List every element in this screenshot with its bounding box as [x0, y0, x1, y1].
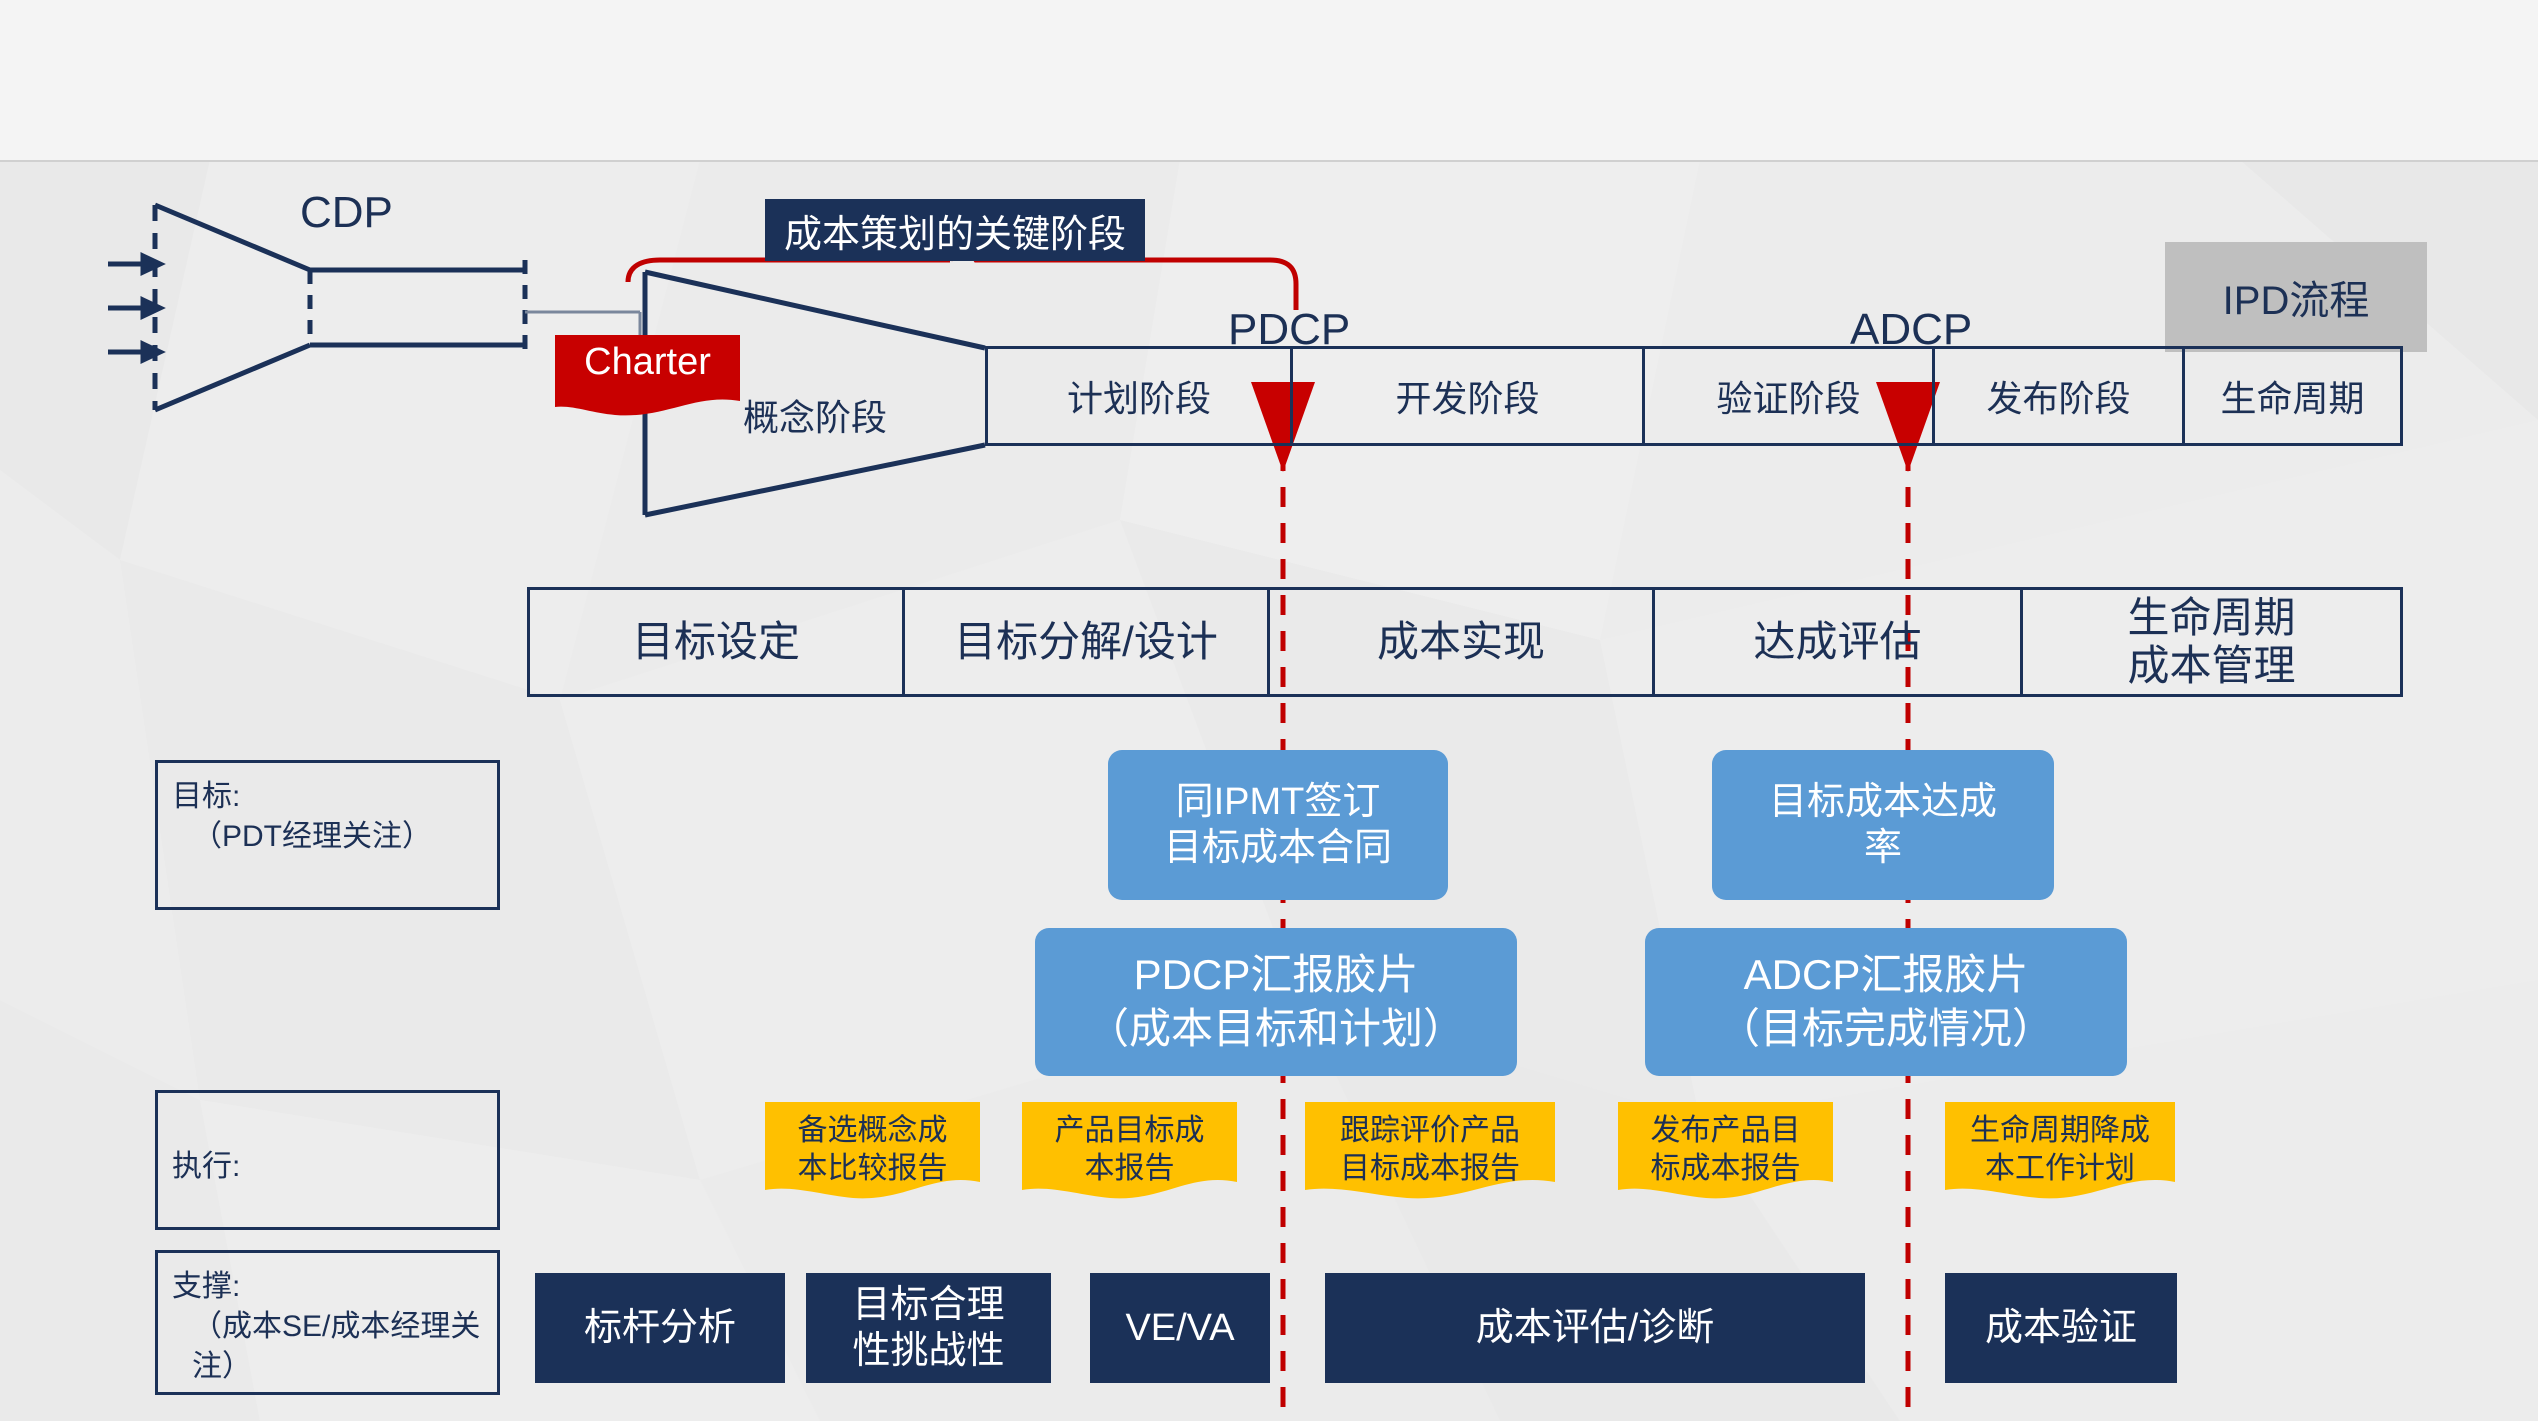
- row-label-support: 支撑: （成本SE/成本经理关注）: [155, 1250, 500, 1395]
- cost-stage-label: 目标设定: [632, 618, 800, 666]
- report-box-pdcp[interactable]: PDCP汇报胶片 （成本目标和计划）: [1035, 928, 1517, 1076]
- page-header: [0, 0, 2538, 162]
- support-box-target-challenge[interactable]: 目标合理 性挑战性: [806, 1273, 1051, 1383]
- phase-cell-release[interactable]: 发布阶段: [1935, 346, 2185, 446]
- support-box-line1: 目标合理: [852, 1282, 1004, 1328]
- banner-line2: 本工作计划: [1945, 1150, 2175, 1188]
- cost-stage-achievement-eval[interactable]: 达成评估: [1655, 587, 2023, 697]
- row-label-goal: 目标: （PDT经理关注）: [155, 760, 500, 910]
- cost-stage-target-breakdown[interactable]: 目标分解/设计: [905, 587, 1270, 697]
- cost-stage-label: 达成评估: [1753, 618, 1921, 666]
- support-box-line1: 成本评估/诊断: [1476, 1305, 1715, 1351]
- phase-cell-develop[interactable]: 开发阶段: [1293, 346, 1645, 446]
- cost-stage-label: 成本实现: [1377, 618, 1545, 666]
- row-label-execution: 执行:: [155, 1090, 500, 1230]
- banner-line1: 发布产品目: [1618, 1112, 1833, 1150]
- goal-box-line1: 目标成本达成: [1769, 779, 1997, 825]
- banner-line2: 目标成本报告: [1305, 1150, 1555, 1188]
- banner-line2: 本报告: [1022, 1150, 1237, 1188]
- report-box-line1: PDCP汇报胶片: [1087, 948, 1465, 1002]
- phase-label: 开发阶段: [1395, 370, 1539, 422]
- support-box-cost-verification[interactable]: 成本验证: [1945, 1273, 2177, 1383]
- cost-stage-cost-realization[interactable]: 成本实现: [1270, 587, 1655, 697]
- ipd-process-box: IPD流程: [2165, 242, 2427, 352]
- support-box-benchmark[interactable]: 标杆分析: [535, 1273, 785, 1383]
- cost-stage-lifecycle-cost-mgmt[interactable]: 生命周期 成本管理: [2023, 587, 2403, 697]
- row-label-line2: （PDT经理关注）: [172, 817, 487, 857]
- banner-line1: 生命周期降成: [1945, 1112, 2175, 1150]
- cdp-label: CDP: [300, 188, 393, 238]
- phase-label: 计划阶段: [1067, 370, 1211, 422]
- report-box-line1: ADCP汇报胶片: [1718, 948, 2054, 1002]
- report-box-adcp[interactable]: ADCP汇报胶片 （目标完成情况）: [1645, 928, 2127, 1076]
- support-box-line1: 标杆分析: [584, 1305, 736, 1351]
- banner-line2: 标成本报告: [1618, 1150, 1833, 1188]
- support-box-line1: VE/VA: [1125, 1305, 1234, 1351]
- execution-banner-product-target-report[interactable]: 产品目标成 本报告: [1022, 1102, 1237, 1202]
- support-box-line1: 成本验证: [1985, 1305, 2137, 1351]
- goal-box-line2: 率: [1769, 825, 1997, 871]
- cost-stage-label-line2: 成本管理: [2127, 642, 2295, 690]
- cost-stage-label-line1: 生命周期: [2127, 594, 2295, 642]
- row-label-line1: 目标:: [172, 777, 487, 817]
- banner-line1: 备选概念成: [765, 1112, 980, 1150]
- goal-box-line1: 同IPMT签订: [1164, 779, 1392, 825]
- execution-banner-release-report[interactable]: 发布产品目 标成本报告: [1618, 1102, 1833, 1202]
- execution-banner-lifecycle-reduction-plan[interactable]: 生命周期降成 本工作计划: [1945, 1102, 2175, 1202]
- banner-line1: 产品目标成: [1022, 1112, 1237, 1150]
- phase-label: 验证阶段: [1716, 370, 1860, 422]
- support-box-cost-eval-diagnosis[interactable]: 成本评估/诊断: [1325, 1273, 1865, 1383]
- goal-box-line2: 目标成本合同: [1164, 825, 1392, 871]
- goal-box-ipmt-contract[interactable]: 同IPMT签订 目标成本合同: [1108, 750, 1448, 900]
- execution-banner-concept-compare[interactable]: 备选概念成 本比较报告: [765, 1102, 980, 1202]
- row-label-line1: 支撑:: [172, 1267, 487, 1307]
- row-label-line2: （成本SE/成本经理关注）: [172, 1307, 487, 1387]
- phase-cell-verify[interactable]: 验证阶段: [1645, 346, 1935, 446]
- goal-box-achievement-rate[interactable]: 目标成本达成 率: [1712, 750, 2054, 900]
- phase-label: 概念阶段: [743, 389, 887, 441]
- execution-banner-tracking-eval[interactable]: 跟踪评价产品 目标成本报告: [1305, 1102, 1555, 1202]
- banner-line2: 本比较报告: [765, 1150, 980, 1188]
- key-stage-badge: 成本策划的关键阶段: [765, 199, 1145, 261]
- cost-stage-label: 目标分解/设计: [954, 618, 1218, 666]
- support-box-line2: 性挑战性: [852, 1328, 1004, 1374]
- row-label-line1: 执行:: [172, 1147, 240, 1187]
- report-box-line2: （目标完成情况）: [1718, 1002, 2054, 1056]
- report-box-line2: （成本目标和计划）: [1087, 1002, 1465, 1056]
- phase-cell-plan[interactable]: 计划阶段: [985, 346, 1293, 446]
- phase-cell-concept[interactable]: 概念阶段: [645, 365, 985, 465]
- phase-cell-lifecycle[interactable]: 生命周期: [2185, 346, 2403, 446]
- phase-label: 生命周期: [2220, 370, 2364, 422]
- phase-label: 发布阶段: [1986, 370, 2130, 422]
- support-box-veva[interactable]: VE/VA: [1090, 1273, 1270, 1383]
- diagram-canvas: CDP 成本策划的关键阶段 IPD流程 Charter PDCP ADCP 概念…: [0, 160, 2538, 1421]
- banner-line1: 跟踪评价产品: [1305, 1112, 1555, 1150]
- cost-stage-target-setting[interactable]: 目标设定: [527, 587, 905, 697]
